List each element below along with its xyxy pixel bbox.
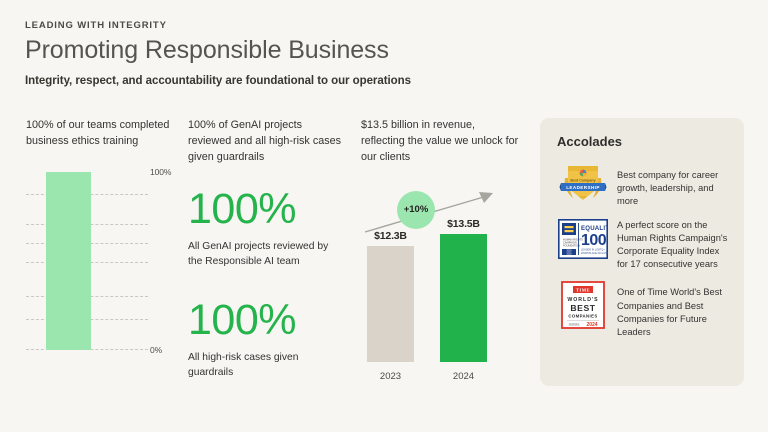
page-subtitle: Integrity, respect, and accountability a… [25,75,725,87]
bar-category-2023: 2023 [367,371,414,382]
hrc-equality-100-badge-icon: HUMAN RIGHTS CAMPAIGN FOUNDATION 2025 20… [558,219,608,259]
stat-high-risk-guardrails: 100% All high-risk cases given guardrail… [188,299,343,380]
stat-value: 100% [188,188,343,231]
comparably-leadership-badge-icon: Best Company LEADERSHIP 2024 [559,162,607,206]
svg-text:COMPANIES: COMPANIES [568,314,597,319]
svg-text:Best Company: Best Company [570,179,595,183]
bar-value-2023: $12.3B [367,230,414,242]
leadership-badge-wrap: Best Company LEADERSHIP 2024 [557,162,609,206]
svg-text:FOUNDATION: FOUNDATION [563,243,580,247]
growth-badge: +10% [397,191,435,229]
accolade-item-equality-100: HUMAN RIGHTS CAMPAIGN FOUNDATION 2025 20… [557,219,729,272]
accolade-text: One of Time World's Best Companies and B… [617,281,729,339]
bar-value-2024: $13.5B [440,218,487,230]
time-worlds-best-companies-badge-icon: TIME WORLD'S BEST COMPANIES statista 202… [561,281,605,329]
svg-text:100: 100 [581,232,607,249]
page-title: Promoting Responsible Business [25,36,725,64]
svg-text:LEADERSHIP: LEADERSHIP [566,185,600,190]
column-revenue: $13.5 billion in revenue, reflecting the… [361,118,521,384]
accolade-item-leadership: Best Company LEADERSHIP 2024 Best compan… [557,162,729,209]
column-genai: 100% of GenAI projects reviewed and all … [188,118,343,380]
svg-text:BEST: BEST [570,303,595,313]
svg-text:WORKPLACE INCLUSION: WORKPLACE INCLUSION [581,252,608,255]
axis-label-bottom: 0% [150,345,162,355]
stat-caption: All high-risk cases given guardrails [188,351,343,380]
axis-label-top: 100% [150,167,171,177]
growth-badge-label: +10% [404,204,429,215]
stat-value: 100% [188,299,343,342]
stat-genai-reviewed: 100% All GenAI projects reviewed by the … [188,188,343,269]
revenue-heading: $13.5 billion in revenue, reflecting the… [361,118,521,166]
ethics-training-chart: 100% 0% [26,172,176,350]
svg-text:2026: 2026 [566,253,572,255]
svg-text:TIME: TIME [576,288,590,293]
accolades-title: Accolades [557,134,729,149]
stat-caption: All GenAI projects reviewed by the Respo… [188,240,343,269]
slide-header: LEADING WITH INTEGRITY Promoting Respons… [25,20,725,87]
eyebrow-label: LEADING WITH INTEGRITY [25,20,725,31]
genai-heading: 100% of GenAI projects reviewed and all … [188,118,343,166]
ethics-training-heading: 100% of our teams completed business eth… [26,118,176,150]
bar-category-2024: 2024 [440,371,487,382]
accolade-text: A perfect score on the Human Rights Camp… [617,219,729,272]
svg-text:2024: 2024 [586,322,597,328]
revenue-bar-2024 [440,234,487,362]
accolades-panel: Accolades Best Company [540,118,744,386]
accolade-item-time-best-companies: TIME WORLD'S BEST COMPANIES statista 202… [557,281,729,339]
accolades-list: Best Company LEADERSHIP 2024 Best compan… [557,162,729,339]
svg-text:EQUALITY: EQUALITY [581,225,608,232]
revenue-chart: +10% $12.3B $13.5B 2023 2024 [361,184,521,384]
time-badge-wrap: TIME WORLD'S BEST COMPANIES statista 202… [557,281,609,329]
svg-text:2024: 2024 [580,195,587,199]
svg-text:2025: 2025 [566,250,572,252]
svg-text:statista: statista [569,323,580,327]
revenue-bar-2023 [367,246,414,362]
slide-canvas: LEADING WITH INTEGRITY Promoting Respons… [0,0,768,432]
column-ethics-training: 100% of our teams completed business eth… [26,118,176,350]
equality-badge-wrap: HUMAN RIGHTS CAMPAIGN FOUNDATION 2025 20… [557,219,609,259]
training-completion-bar [46,172,91,350]
accolade-text: Best company for career growth, leadersh… [617,162,729,209]
